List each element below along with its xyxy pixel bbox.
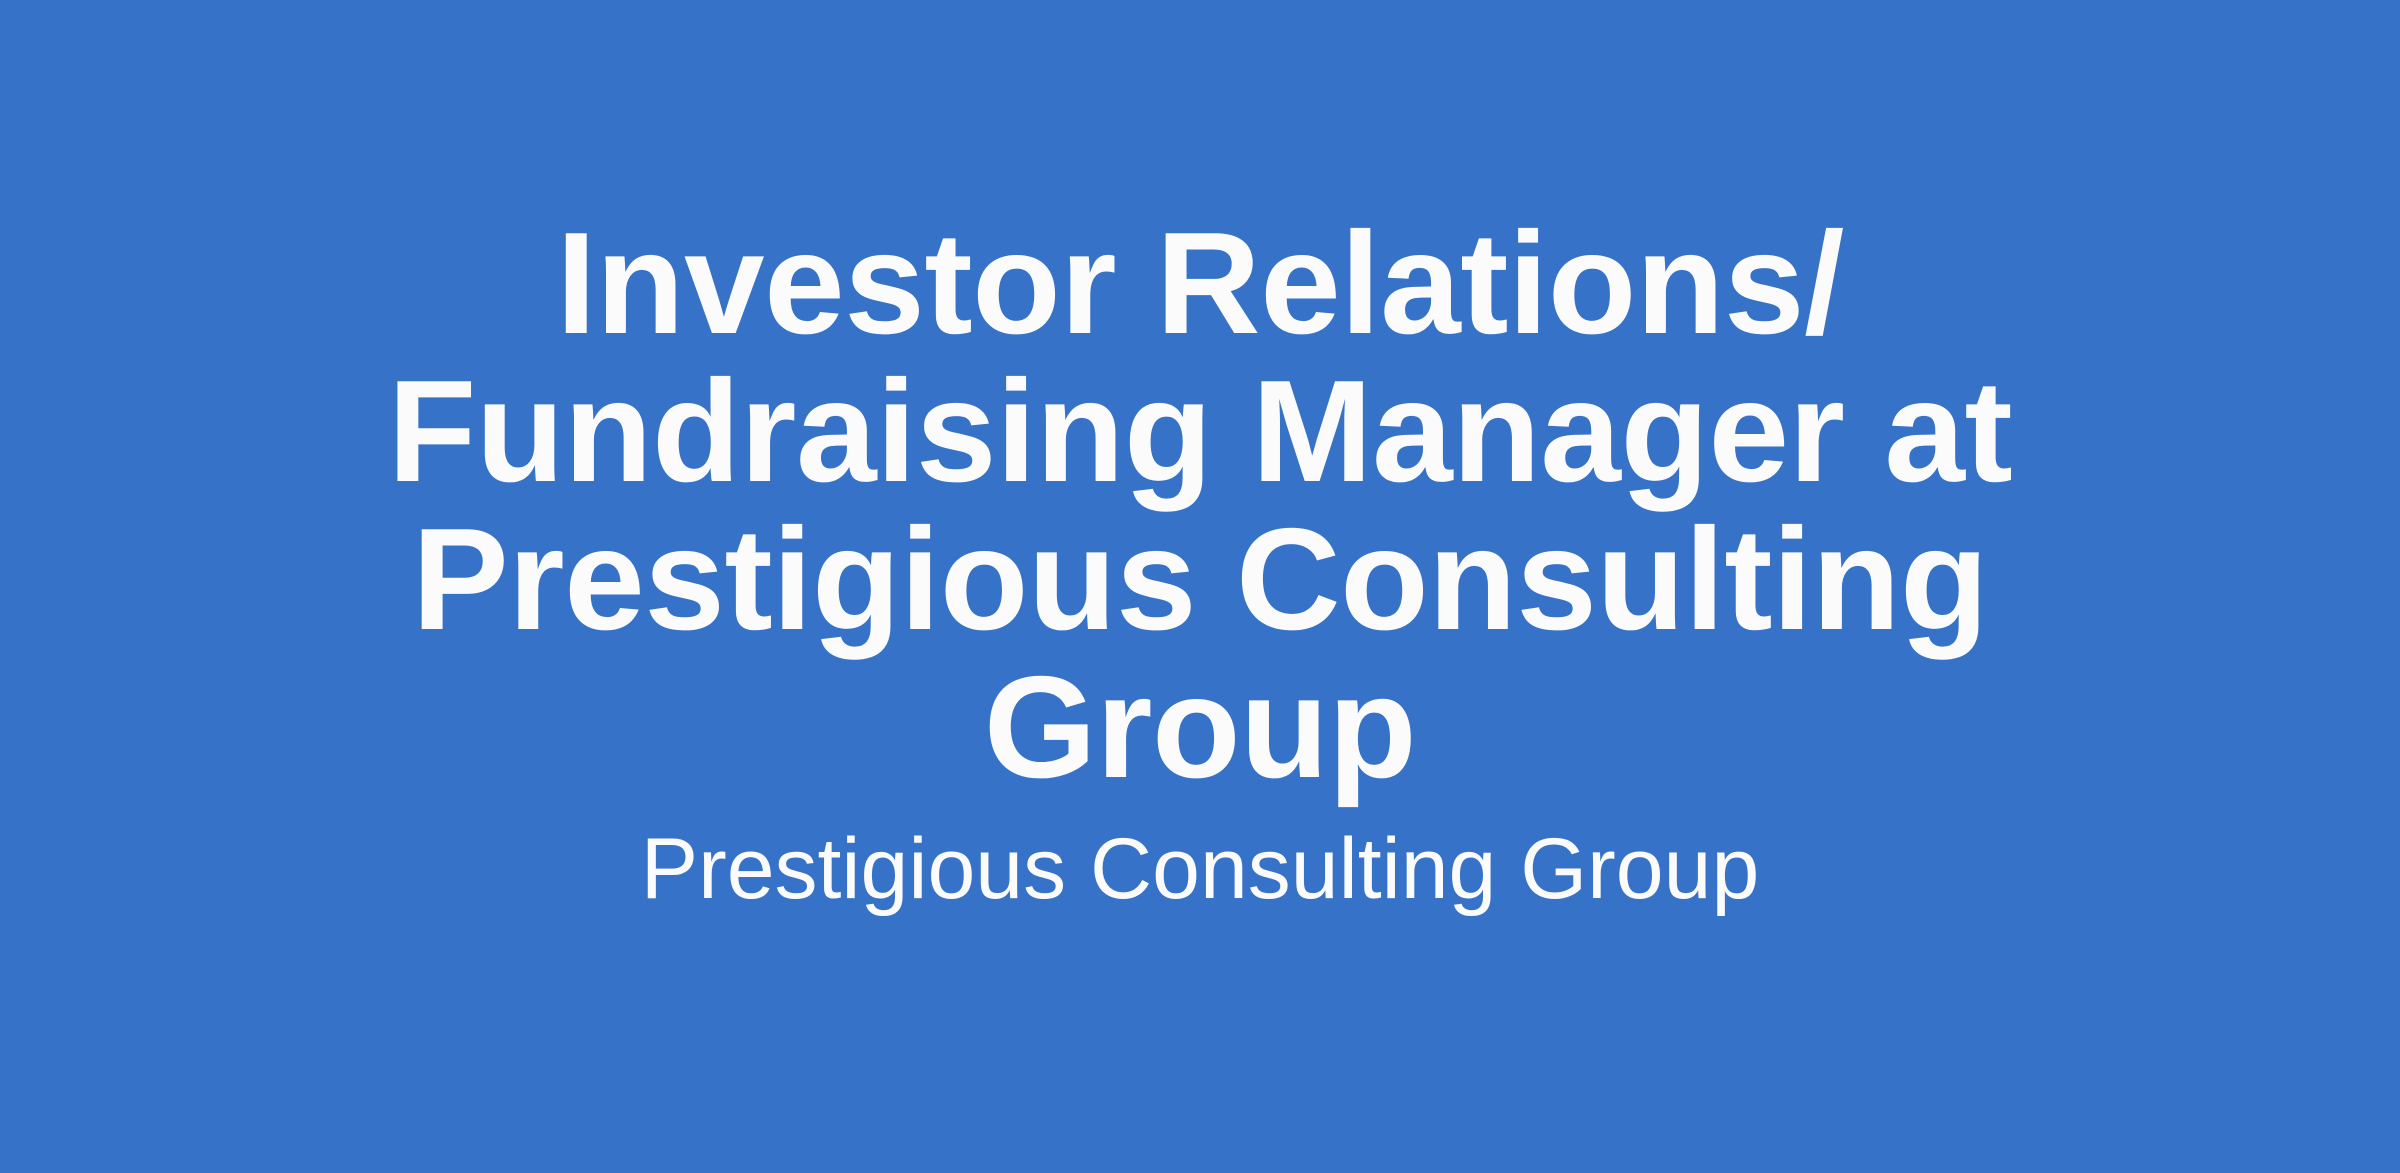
card-content: Investor Relations/ Fundraising Manager … [270, 210, 2130, 918]
company-name: Prestigious Consulting Group [270, 820, 2130, 919]
page-title: Investor Relations/ Fundraising Manager … [270, 210, 2130, 802]
job-posting-card: Investor Relations/ Fundraising Manager … [0, 0, 2400, 1173]
